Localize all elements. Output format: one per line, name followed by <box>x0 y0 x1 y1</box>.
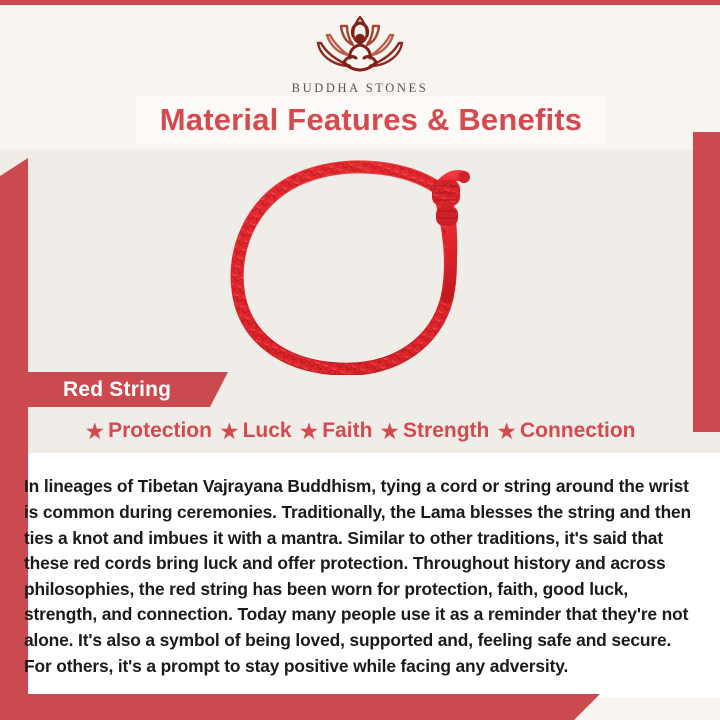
star-icon: ★ <box>379 420 400 443</box>
description-text: In lineages of Tibetan Vajrayana Buddhis… <box>24 474 696 679</box>
top-accent-bar <box>0 0 720 5</box>
brand-logo: BUDDHA STONES <box>0 12 720 96</box>
benefit-label: Connection <box>520 419 636 443</box>
benefits-list: ★ Protection ★ Luck ★ Faith ★ Strength ★… <box>0 419 720 443</box>
star-icon: ★ <box>85 420 106 443</box>
product-image <box>0 150 720 380</box>
benefit-item-luck: ★ Luck <box>219 419 292 443</box>
star-icon: ★ <box>299 420 320 443</box>
benefit-item-strength: ★ Strength <box>379 419 489 443</box>
page-title: Material Features & Benefits <box>160 102 583 138</box>
benefit-label: Protection <box>108 419 212 443</box>
star-icon: ★ <box>219 420 240 443</box>
product-infographic: BUDDHA STONES Material Features & Benefi… <box>0 0 720 720</box>
bottom-red-border <box>0 694 600 720</box>
product-name-label: Red String <box>63 378 171 402</box>
product-name-ribbon: Red String <box>0 372 228 407</box>
benefit-item-faith: ★ Faith <box>299 419 373 443</box>
page-title-band: Material Features & Benefits <box>136 96 606 144</box>
star-icon: ★ <box>496 420 517 443</box>
benefit-item-connection: ★ Connection <box>496 419 635 443</box>
brand-wordmark: BUDDHA STONES <box>0 81 720 96</box>
lotus-meditation-figure-icon <box>0 12 720 79</box>
benefit-label: Faith <box>322 419 372 443</box>
benefit-label: Luck <box>243 419 292 443</box>
benefit-label: Strength <box>403 419 489 443</box>
benefit-item-protection: ★ Protection <box>85 419 212 443</box>
